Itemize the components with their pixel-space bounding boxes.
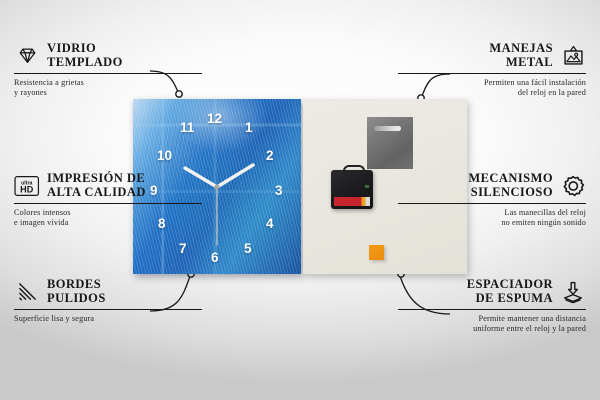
feature-title: MANEJAS METAL — [489, 42, 553, 69]
clock-mechanism-box — [331, 170, 373, 209]
feature-description: Resistencia a grietas y rayones — [14, 78, 202, 98]
feature-vidrio-templado: VIDRIO TEMPLADO Resistencia a grietas y … — [14, 42, 202, 98]
feature-divider — [398, 203, 586, 204]
feature-divider — [14, 309, 202, 310]
clock-minute-hand — [217, 165, 253, 187]
feature-bordes-pulidos: BORDES PULIDOS Superficie lisa y segura — [14, 278, 202, 324]
mechanism-hanging-loop — [343, 165, 365, 175]
feature-title: IMPRESIÓN DE ALTA CALIDAD — [47, 172, 146, 199]
feature-description: Colores intensos e imagen vívida — [14, 208, 202, 228]
gear-icon — [560, 173, 586, 199]
mechanism-indicator — [365, 185, 369, 188]
feature-impresion-alta-calidad: ultra HD IMPRESIÓN DE ALTA CALIDAD Color… — [14, 172, 202, 228]
foam-spacer-icon — [560, 279, 586, 305]
clock-center-cap — [214, 184, 219, 189]
feature-title: MECANISMO SILENCIOSO — [468, 172, 553, 199]
feature-title: BORDES PULIDOS — [47, 278, 106, 305]
svg-text:HD: HD — [20, 184, 34, 194]
metal-hanger-plate — [367, 117, 413, 169]
mechanism-label-strip — [334, 197, 370, 206]
feature-divider — [14, 73, 202, 74]
diamond-icon — [14, 43, 40, 69]
feature-divider — [398, 73, 586, 74]
picture-hanger-icon — [560, 43, 586, 69]
hanger-slot — [374, 126, 401, 131]
feature-description: Superficie lisa y segura — [14, 314, 202, 324]
feature-description: Las manecillas del reloj no emiten ningú… — [398, 208, 586, 228]
feature-description: Permite mantener una distancia uniforme … — [398, 314, 586, 334]
feature-title: VIDRIO TEMPLADO — [47, 42, 123, 69]
polished-edge-icon — [14, 279, 40, 305]
infographic-canvas: 12 1 2 3 4 5 6 7 8 9 10 11 — [0, 0, 600, 400]
feature-title: ESPACIADOR DE ESPUMA — [467, 278, 553, 305]
foam-spacer-square — [369, 245, 384, 260]
feature-divider — [398, 309, 586, 310]
feature-divider — [14, 203, 202, 204]
feature-mecanismo-silencioso: MECANISMO SILENCIOSO Las manecillas del … — [398, 172, 586, 228]
feature-espaciador-de-espuma: ESPACIADOR DE ESPUMA Permite mantener un… — [398, 278, 586, 334]
feature-manejas-metal: MANEJAS METAL Permiten una fácil instala… — [398, 42, 586, 98]
feature-description: Permiten una fácil instalación del reloj… — [398, 78, 586, 98]
ultra-hd-icon: ultra HD — [14, 173, 40, 199]
